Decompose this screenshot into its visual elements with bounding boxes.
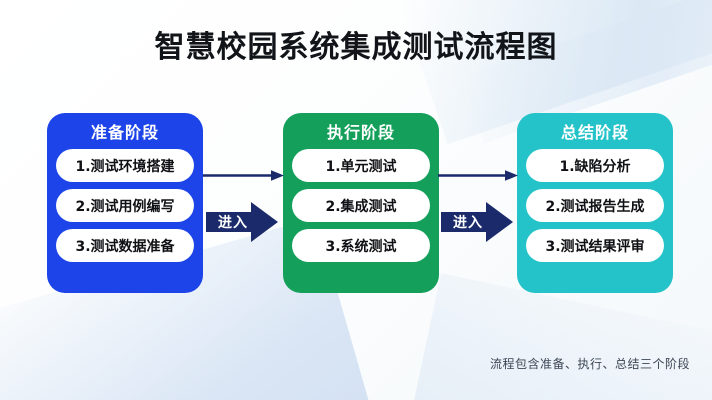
stage-item[interactable]: 2.测试用例编写 (56, 189, 194, 222)
stage-item[interactable]: 2.测试报告生成 (526, 189, 664, 222)
stage-item[interactable]: 3.测试结果评审 (526, 229, 664, 262)
connector-line-arrow-icon (203, 169, 284, 182)
stage-title-summary: 总结阶段 (561, 120, 629, 146)
stage-item[interactable]: 1.缺陷分析 (526, 149, 664, 182)
stage-item-list-execute: 1.单元测试 2.集成测试 3.系统测试 (292, 149, 430, 262)
transition-arrow-execute-to-summary: 进入 (441, 202, 513, 242)
stage-card-prepare: 准备阶段 1.测试环境搭建 2.测试用例编写 3.测试数据准备 (47, 113, 203, 293)
transition-arrow-label: 进入 (206, 202, 260, 242)
stage-item[interactable]: 1.测试环境搭建 (56, 149, 194, 182)
stage-item[interactable]: 2.集成测试 (292, 189, 430, 222)
connector-line-arrow-icon (438, 169, 518, 182)
stage-item[interactable]: 3.测试数据准备 (56, 229, 194, 262)
footer-note: 流程包含准备、执行、总结三个阶段 (490, 355, 690, 372)
transition-arrow-label: 进入 (441, 202, 495, 242)
stage-card-execute: 执行阶段 1.单元测试 2.集成测试 3.系统测试 (283, 113, 439, 293)
stage-card-summary: 总结阶段 1.缺陷分析 2.测试报告生成 3.测试结果评审 (517, 113, 673, 293)
stage-item[interactable]: 3.系统测试 (292, 229, 430, 262)
page-title: 智慧校园系统集成测试流程图 (0, 22, 712, 66)
slide-canvas: 智慧校园系统集成测试流程图 准备阶段 1.测试环境搭建 2.测试用例编写 3.测… (0, 0, 712, 400)
stage-item-list-prepare: 1.测试环境搭建 2.测试用例编写 3.测试数据准备 (56, 149, 194, 262)
stage-item-list-summary: 1.缺陷分析 2.测试报告生成 3.测试结果评审 (526, 149, 664, 262)
stage-title-execute: 执行阶段 (327, 120, 395, 146)
transition-arrow-prepare-to-execute: 进入 (206, 202, 278, 242)
stage-item[interactable]: 1.单元测试 (292, 149, 430, 182)
stage-title-prepare: 准备阶段 (91, 120, 159, 146)
